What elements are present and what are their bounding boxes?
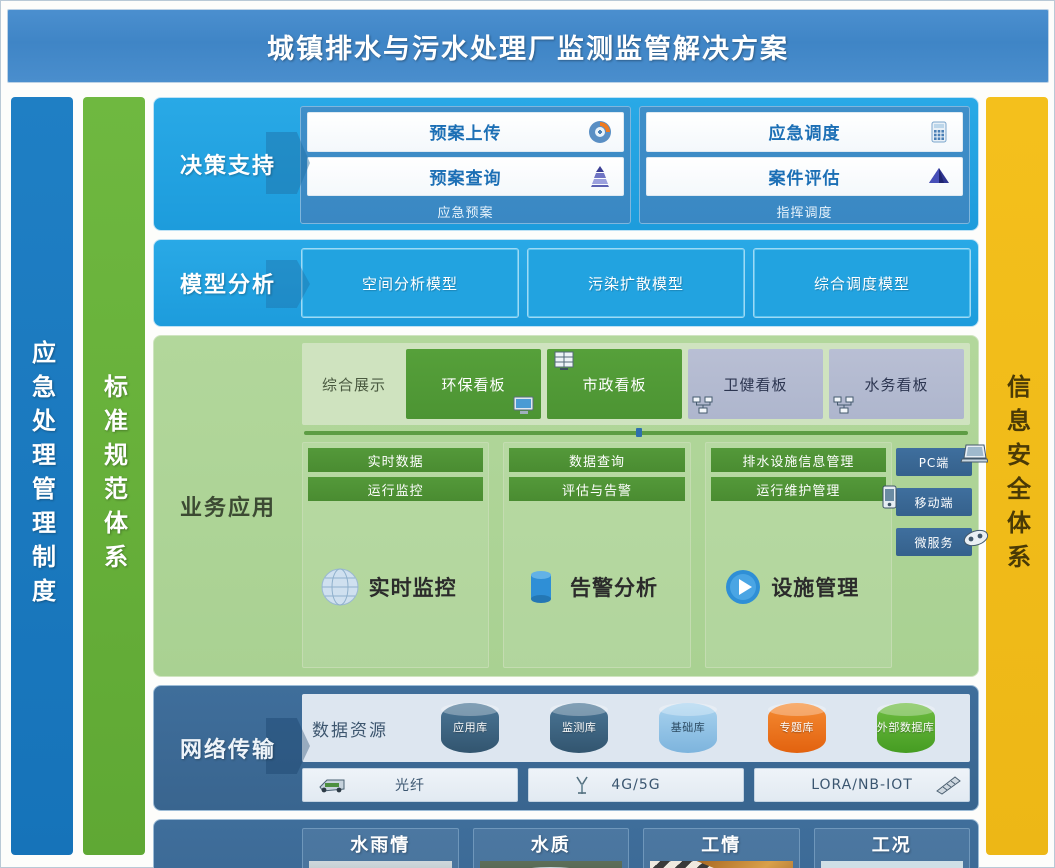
architecture-stack: 决策支持 预案上传 [153,97,979,857]
feature-realtime-monitoring-label: 实时监控 [369,572,457,602]
feature-facility-management-label: 设施管理 [771,572,859,602]
page-header: 城镇排水与污水处理厂监测监管解决方案 [7,9,1049,83]
sideband-standards: 标准规范体系 [83,97,145,855]
network-icon [833,395,855,415]
data-card-hydrology-label: 水雨情 [303,829,458,859]
button-plan-query-label: 预案查询 [430,164,502,189]
model-box-pollution[interactable]: 污染扩散模型 [528,249,744,317]
client-microservice[interactable]: 微服务 [896,528,972,556]
link-lora-nbiot[interactable]: LORA/NB-IOT [754,768,970,802]
feature-alarm-analysis-label: 告警分析 [570,572,658,602]
link-mobile-network[interactable]: 4G/5G [528,768,744,802]
network-icon [692,395,714,415]
data-resource-label: 数据资源 [312,716,416,741]
button-emergency-dispatch[interactable]: 应急调度 [646,112,963,152]
antenna-icon [567,775,597,795]
database-thematic[interactable]: 专题库 [768,703,826,753]
photo-river-channel [309,861,452,868]
database-application-label: 应用库 [453,722,488,734]
feature-alarm-analysis[interactable]: 告警分析 [509,506,684,667]
decision-group-command-dispatch-caption: 指挥调度 [646,202,963,221]
photo-sedimentation-tanks [480,861,623,868]
button-case-assessment-label: 案件评估 [769,164,841,189]
play-circle-icon [719,563,767,611]
link-mobile-network-label: 4G/5G [611,777,660,793]
data-card-water-quality[interactable]: 水质 [473,828,630,868]
model-box-dispatch[interactable]: 综合调度模型 [754,249,970,317]
board-environment-label: 环保看板 [441,374,505,395]
board-water[interactable]: 水务看板 [829,349,964,419]
bar-drainage-facility-info[interactable]: 排水设施信息管理 [711,448,886,472]
data-resource-panel: 数据资源 应用库 监测库 基础库 [302,694,970,762]
sideband-emergency-policy: 应急处理管理制度 [11,97,73,855]
sideband-security: 信息安全体系 [986,97,1048,855]
database-monitoring[interactable]: 监测库 [550,703,608,753]
refresh-globe-icon [587,119,613,145]
row-decision-support: 决策支持 预案上传 [153,97,979,231]
comprehensive-display-label: 综合展示 [308,349,400,419]
feature-realtime-monitoring[interactable]: 实时监控 [308,506,483,667]
database-external-label: 外部数据库 [877,722,935,734]
board-municipal-label: 市政看板 [582,374,646,395]
link-lora-nbiot-label: LORA/NB-IOT [811,777,913,793]
pyramid-solid-icon [926,163,952,189]
data-card-water-quality-label: 水质 [474,829,629,859]
sideband-security-label: 信息安全体系 [1000,374,1035,578]
bar-data-query[interactable]: 数据查询 [509,448,684,472]
data-card-works-condition[interactable]: 工情 [643,828,800,868]
data-card-hydrology[interactable]: 水雨情 [302,828,459,868]
feature-facility-management[interactable]: 设施管理 [711,506,886,667]
database-monitoring-label: 监测库 [562,722,597,734]
row-model-analysis: 模型分析 空间分析模型 污染扩散模型 综合调度模型 [153,239,979,327]
comprehensive-display-panel: 综合展示 环保看板 市政看板 [302,343,970,425]
row-decision-support-label: 决策支持 [154,98,302,230]
bar-assessment-alarm[interactable]: 评估与告警 [509,477,684,501]
client-pc-label: PC端 [919,454,950,471]
database-icon [517,563,565,611]
database-thematic-label: 专题库 [780,722,815,734]
solution-architecture-diagram: 城镇排水与污水处理厂监测监管解决方案 应急处理管理制度 标准规范体系 信息安全体… [0,0,1055,868]
photo-process-schematic [821,861,964,868]
database-external[interactable]: 外部数据库 [877,703,935,753]
row-network-transmission: 网络传输 数据资源 应用库 监测库 基础库 [153,685,979,811]
row-business-application-label: 业务应用 [154,336,302,676]
window-icon [553,351,575,371]
fiber-icon [317,775,347,795]
data-card-operating-status-label: 工况 [815,829,970,859]
monitor-icon [513,395,535,415]
calculator-icon [926,119,952,145]
board-health[interactable]: 卫健看板 [688,349,823,419]
decision-group-emergency-plan-caption: 应急预案 [307,202,624,221]
row-network-transmission-label: 网络传输 [154,686,302,810]
sideband-standards-label: 标准规范体系 [97,374,132,578]
database-basic-label: 基础库 [671,722,706,734]
client-pc[interactable]: PC端 [896,448,972,476]
client-mobile-label: 移动端 [914,494,953,511]
link-fiber-label: 光纤 [395,775,425,795]
board-water-label: 水务看板 [864,374,928,395]
bar-operation-monitoring[interactable]: 运行监控 [308,477,483,501]
row-model-analysis-label: 模型分析 [154,240,302,326]
business-column-alarm: 数据查询 评估与告警 告警分析 [503,442,690,668]
decision-group-emergency-plan: 预案上传 预案查询 [300,106,631,224]
board-health-label: 卫健看板 [723,374,787,395]
row-business-application: 业务应用 综合展示 环保看板 市政看板 [153,335,979,677]
client-mobile[interactable]: 移动端 [896,488,972,516]
button-plan-upload-label: 预案上传 [430,119,502,144]
globe-icon [316,563,364,611]
row-data-collection: 数据采集 水雨情 水质 工情 工 [153,819,979,868]
button-plan-upload[interactable]: 预案上传 [307,112,624,152]
business-column-facility: 排水设施信息管理 运行维护管理 设施管理 [705,442,892,668]
device-icon [962,526,988,548]
photo-pipeline [650,861,793,868]
decision-group-command-dispatch: 应急调度 [639,106,970,224]
mobile-icon [878,484,904,506]
business-column-monitoring: 实时数据 运行监控 实时监控 [302,442,489,668]
button-plan-query[interactable]: 预案查询 [307,157,624,197]
pyramid-stack-icon [587,163,613,189]
database-basic[interactable]: 基础库 [659,703,717,753]
button-case-assessment[interactable]: 案件评估 [646,157,963,197]
page-title: 城镇排水与污水处理厂监测监管解决方案 [267,27,789,66]
sideband-emergency-policy-label: 应急处理管理制度 [25,340,60,612]
bar-realtime-data[interactable]: 实时数据 [308,448,483,472]
bar-operation-maintenance[interactable]: 运行维护管理 [711,477,886,501]
database-application[interactable]: 应用库 [441,703,499,753]
client-microservice-label: 微服务 [914,534,953,551]
row-data-collection-label: 数据采集 [154,820,302,868]
button-emergency-dispatch-label: 应急调度 [769,119,841,144]
module-icon [933,775,963,795]
board-municipal[interactable]: 市政看板 [547,349,682,419]
laptop-icon [960,442,986,464]
board-environment[interactable]: 环保看板 [406,349,541,419]
business-divider [304,431,968,435]
model-box-spatial[interactable]: 空间分析模型 [302,249,518,317]
data-card-operating-status[interactable]: 工况 [814,828,971,868]
link-fiber[interactable]: 光纤 [302,768,518,802]
data-card-works-condition-label: 工情 [644,829,799,859]
